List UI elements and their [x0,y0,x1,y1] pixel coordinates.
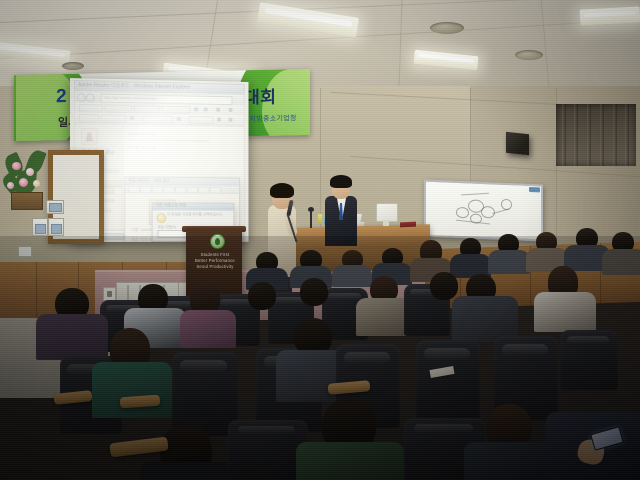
whiteboard-sketch [456,207,469,219]
toolbar-button[interactable] [101,115,127,123]
wall-control-box[interactable] [32,218,48,236]
seat-highlight [180,360,228,372]
audience-shoulders [534,292,596,332]
auditorium-seat[interactable] [416,340,480,424]
warning-icon [157,213,167,223]
whiteboard [424,180,543,242]
address-bar-text: http://get.adobe.com/kr/reader/ [104,95,158,101]
desk-microphone [310,210,312,228]
presenter-suit-hair [330,175,352,188]
whiteboard-stroke [461,193,489,196]
audience-shoulders [92,362,172,418]
curtain-fold [613,104,617,166]
banner-title-left: 2 [56,86,67,108]
wall-speaker-icon [506,132,529,155]
flower-bloom [26,168,34,176]
wall-outlet [103,287,116,301]
presenter-mic-hair [270,183,294,198]
audience-shoulders [140,462,236,480]
water-bottle [318,214,322,224]
light-switch[interactable] [18,246,32,257]
seat-back [560,330,618,390]
browser-title-text: Adobe Reader 다운로드 - Windows Internet Exp… [78,81,191,90]
auditorium-seat[interactable] [560,330,618,390]
audience-shoulders [488,250,530,274]
control-box-display [51,224,62,234]
flower-bloom [12,162,21,170]
red-binder [400,222,416,228]
curtain-fold [625,104,629,166]
audience-shoulders [602,249,640,275]
podium-slogan-line-3: Seoul Productivity [194,264,236,270]
save-dialog-message: 이 파일을 저장할 위치를 선택하십시오. [167,212,229,217]
seat-highlight [414,424,473,433]
forward-arrow-icon[interactable] [86,93,95,102]
wall-control-box[interactable] [48,218,64,236]
audience-head [300,278,328,306]
conference-hall-photo: 2 술대회 일시 서울지방중소기업청 Adobe Reader 다운로드 - W… [0,0,640,480]
seat-highlight [328,293,361,300]
ceiling-light [580,6,640,25]
toolbar-button[interactable] [188,116,213,124]
audience-shoulders [180,310,236,348]
ceiling-vent [62,62,84,70]
wall-seam [320,88,321,228]
page-heading-text: Adobe Reader [128,131,156,136]
toolbar-button[interactable] [142,115,173,123]
control-box-display [35,224,46,234]
audience-head [248,282,276,310]
seat-highlight [502,344,548,356]
dialog-tab[interactable] [140,186,152,192]
audience-head [430,272,458,300]
audience-shoulders [296,442,404,480]
curtain-fold [562,104,566,166]
dialog-tab[interactable] [187,187,199,193]
whiteboard-stroke [492,208,509,214]
control-box-display [49,203,62,212]
toolbar-icon[interactable] [194,107,198,111]
flower-bloom [33,180,40,187]
seat-highlight [238,426,296,434]
flower-basket [11,192,43,210]
toolbar-icon[interactable] [130,116,134,120]
seat-highlight [567,336,609,344]
dialog-tab[interactable] [210,187,221,193]
audience-shoulders [464,442,556,480]
seat-highlight [344,352,390,364]
dialog-tab[interactable] [128,186,140,192]
dialog-title-text: 파일 다운로드 - 보안 경고 [128,177,169,183]
seat-back [416,340,480,424]
save-dialog-title-bar: 다른 이름으로 저장 [153,203,234,210]
toolbar-button[interactable] [79,114,99,122]
flower-arrangement [4,148,50,208]
dialog-tab[interactable] [175,187,187,193]
university-emblem-icon [210,234,225,249]
seat-highlight [424,348,470,360]
dialog-tab-strip [125,185,239,194]
page-subtext: 시스템 요구사항 [128,145,156,151]
audience-shoulders [36,314,108,360]
wall-control-box[interactable] [46,200,64,214]
toolbar-icon[interactable] [217,118,221,122]
whiteboard-corner-tag [529,187,540,192]
save-dialog-title-text: 다른 이름으로 저장 [156,202,187,208]
dialog-tab[interactable] [152,187,164,193]
ceiling-vent [515,50,543,60]
curtained-window [556,104,636,166]
toolbar-icon[interactable] [177,117,181,121]
ceiling-vent [430,22,464,34]
banner-swoosh-left-inner [16,69,78,141]
toolbar-icon[interactable] [229,108,233,112]
dialog-tab[interactable] [163,187,175,193]
back-arrow-icon[interactable] [77,93,86,102]
toolbar-icon[interactable] [229,118,233,122]
curtain-fold [574,104,578,166]
page-rule [128,139,209,142]
adobe-logo-icon [81,128,98,145]
audience-shoulders [332,265,372,287]
toolbar-icon[interactable] [204,108,208,112]
flower-bloom [19,178,28,187]
radiator-slat [127,285,129,301]
toolbar-icon[interactable] [216,108,220,112]
curtain-fold [600,104,604,166]
curtain-fold [587,104,591,166]
flower-bloom [7,182,14,189]
monitor-stand [383,220,389,226]
dialog-tab[interactable] [198,187,209,193]
